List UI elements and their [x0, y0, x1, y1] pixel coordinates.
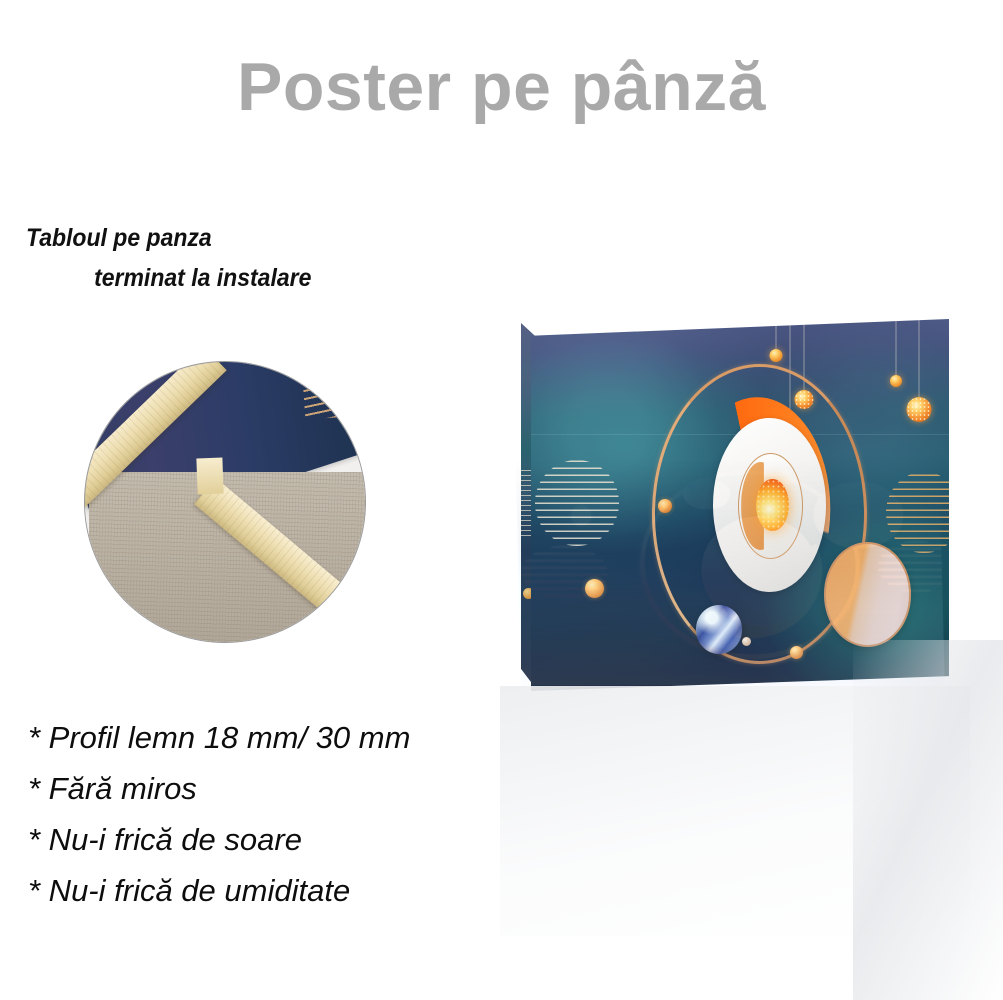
inner-copper-ring: [738, 453, 803, 560]
white-ring: [713, 418, 826, 593]
artwork: [531, 319, 949, 691]
feature-item: * Nu-i frică de soare: [28, 814, 648, 865]
orb-body: [907, 397, 932, 422]
subtitle-line-2: terminat la instalare: [26, 258, 449, 298]
page-title: Poster pe pânză: [0, 48, 1003, 126]
canvas-face: [531, 319, 949, 691]
core-dot-pattern: [756, 479, 789, 531]
feature-item: * Nu-i frică de umiditate: [28, 865, 648, 916]
hanging-orb-5: [907, 319, 931, 475]
blue-marble-sphere: [696, 605, 742, 653]
feature-item: * Profil lemn 18 mm/ 30 mm: [28, 712, 648, 763]
feature-item: * Fără miros: [28, 763, 648, 814]
canvas-corner-photo: [84, 361, 366, 643]
hanging-orb-4: [890, 319, 902, 431]
product-info-page: Poster pe pânză Tabloul pe panza termina…: [0, 0, 1003, 1000]
orb-string: [919, 319, 920, 400]
striped-circle-left: [535, 460, 619, 546]
subtitle-line-1: Tabloul pe panza: [26, 218, 449, 258]
pink-copper-ellipse: [824, 542, 912, 646]
orb-body: [890, 375, 902, 387]
subtitle-block: Tabloul pe panza terminat la instalare: [26, 218, 449, 298]
gold-core-sphere: [756, 479, 789, 531]
feature-list: * Profil lemn 18 mm/ 30 mm * Fără miros …: [28, 712, 648, 916]
wood-bar-joint: [196, 458, 223, 495]
orb-string: [776, 319, 777, 352]
orb-body: [770, 349, 783, 362]
canvas-product-render: [505, 305, 955, 705]
orb-string: [896, 319, 897, 377]
print-stripes: [297, 361, 366, 419]
